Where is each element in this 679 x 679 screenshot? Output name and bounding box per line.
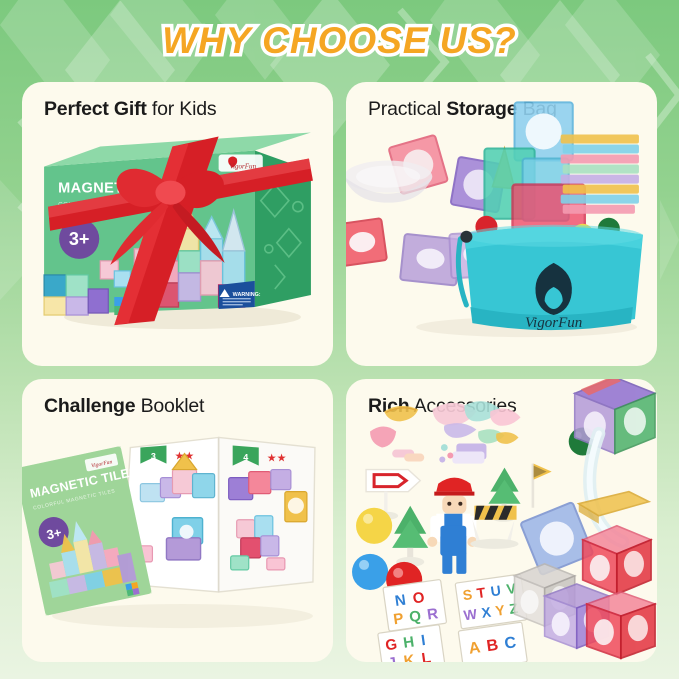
page-right-tab: 4 [233, 445, 259, 465]
page-right-number: 4 [243, 452, 248, 462]
svg-text:WARNING:: WARNING: [233, 292, 261, 298]
flag [532, 463, 552, 507]
page-left-number: 3 [151, 451, 156, 461]
storage-bag: VigorFun [458, 225, 643, 331]
clear-bowl [346, 161, 432, 203]
marble-run-structure [515, 379, 655, 658]
booklet-illustration: 3 ★★ 4 ★★ [22, 379, 333, 663]
card-storage-bag: Practical Storage Bag [346, 82, 657, 366]
card-rich-accessories: Rich Accessories [346, 379, 657, 663]
page-title: WHY CHOOSE US? [162, 20, 517, 62]
sticker-sheet-items [370, 401, 520, 463]
tiles-in-bag [475, 102, 639, 245]
svg-text:VigorFun: VigorFun [525, 315, 582, 331]
svg-text:3+: 3+ [69, 229, 90, 249]
header-banner: WHY CHOOSE US? [0, 0, 679, 82]
figurine [427, 477, 477, 573]
accessories-illustration: N O P Q R S T U V W X Y [346, 379, 657, 663]
warning-label: WARNING: [219, 281, 261, 309]
card-perfect-gift: Perfect Gift for Kids [22, 82, 333, 366]
storage-bag-illustration: VigorFun [346, 82, 657, 366]
card-challenge-booklet: Challenge Booklet 3 ★★ [22, 379, 333, 663]
cover-stem-mark [125, 581, 139, 595]
striped-barrier [470, 505, 518, 548]
letter-cards: N O P Q R S T U V W X Y [378, 573, 528, 662]
page-right-stars: ★★ [267, 452, 287, 464]
stacked-strips [561, 134, 639, 213]
page-left-tab: 3 [140, 445, 166, 463]
feature-card-grid: Perfect Gift for Kids [22, 82, 657, 662]
gift-box-illustration: MAGNETIC TILES COLORFUL MAGNETIC TILES 3… [22, 82, 333, 366]
svg-text:G: G [384, 635, 398, 653]
svg-text:B: B [485, 635, 499, 654]
open-booklet: 3 ★★ 4 ★★ [122, 437, 315, 591]
